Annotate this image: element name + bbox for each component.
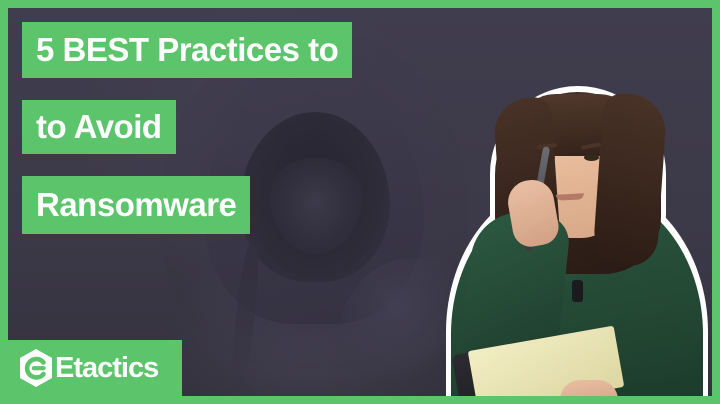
headline-line-1: 5 BEST Practices to: [22, 22, 352, 78]
etactics-hexagon-e-icon: [18, 348, 54, 388]
brand-logo-banner: Etactics: [8, 340, 182, 396]
headline: 5 BEST Practices to to Avoid Ransomware: [22, 22, 352, 234]
brand-name: Etactics: [55, 354, 158, 383]
thumbnail-stage: 5 BEST Practices to to Avoid Ransomware …: [8, 8, 712, 396]
headline-line-3: Ransomware: [22, 176, 250, 234]
headline-line-2: to Avoid: [22, 100, 176, 154]
presenter-eye-right: [584, 154, 599, 161]
video-thumbnail: 5 BEST Practices to to Avoid Ransomware …: [0, 0, 720, 404]
lapel-microphone-icon: [572, 280, 583, 302]
presenter-hair-right: [592, 92, 668, 268]
presenter-cutout: [432, 92, 712, 396]
